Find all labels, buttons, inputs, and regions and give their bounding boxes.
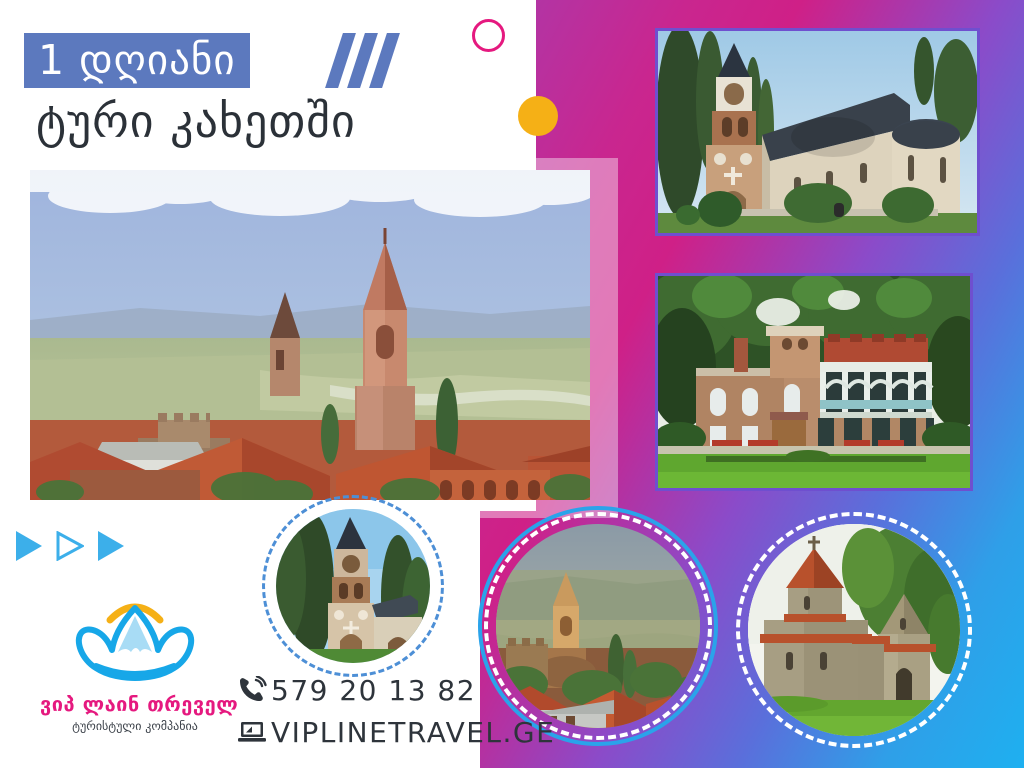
website-url: VIPLINETRAVEL.GE [271,716,555,749]
hero-photo-artwork [30,170,590,500]
contact-block: 579 20 13 82 VIPLINETRAVEL.GE [237,672,555,750]
pink-ring-decoration [472,19,505,52]
old-church-artwork [748,524,960,736]
phone-number: 579 20 13 82 [271,674,476,707]
company-logo[interactable]: ვიპ ლაინ თრეველ ტურისტული კომპანია [40,590,230,733]
yellow-dot-decoration [518,96,558,136]
poster-canvas: 1 დღიანი ტური კახეთში [0,0,1024,768]
play-triangle-outline [56,531,84,561]
hero-sighnaghi-panorama-photo [30,170,590,500]
tsinandali-palace-photo [655,273,973,491]
bodbe-photo-artwork [658,31,977,233]
headline-line-1: 1 დღიანი [38,40,236,81]
tsinandali-photo-artwork [658,276,970,488]
headline-line-2: ტური კახეთში [36,96,356,147]
logo-subtitle: ტურისტული კომპანია [40,719,230,733]
headline-banner: 1 დღიანი [24,33,250,88]
bell-tower-artwork [276,509,430,663]
phone-ringing-icon [237,676,271,704]
laptop-icon [237,719,271,745]
play-triangle-filled-1 [16,531,42,561]
logo-crown-mountain-icon [70,590,200,690]
contact-phone-row[interactable]: 579 20 13 82 [237,672,555,708]
contact-website-row[interactable]: VIPLINETRAVEL.GE [237,714,555,750]
play-triangle-filled-2 [98,531,124,561]
logo-company-name: ვიპ ლაინ თრეველ [40,692,230,716]
play-triangles-decoration [16,531,124,561]
bell-tower-circle-photo [276,509,430,663]
bodbe-monastery-photo [655,28,980,236]
old-church-circle-photo [748,524,960,736]
